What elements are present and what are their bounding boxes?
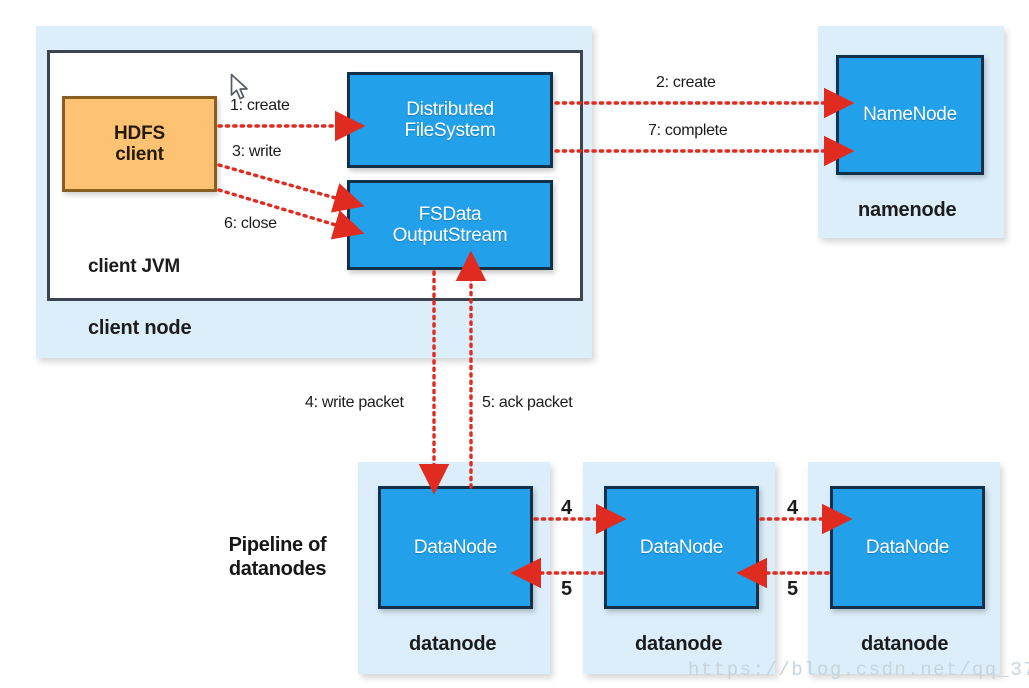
hdfs-client-box[interactable]: HDFS client xyxy=(62,96,217,192)
datanode-label-1: DataNode xyxy=(414,537,497,558)
hdfs-client-label-line2: client xyxy=(114,144,165,165)
diagram-canvas: client JVM client node HDFS client Distr… xyxy=(0,0,1029,688)
label-step-5-ack-packet: 5: ack packet xyxy=(482,394,572,412)
client-jvm-caption: client JVM xyxy=(88,256,180,278)
distributed-filesystem-box[interactable]: Distributed FileSystem xyxy=(347,72,553,168)
label-step-7-complete: 7: complete xyxy=(648,122,727,140)
client-node-caption: client node xyxy=(88,317,191,340)
pipeline-label-line1: Pipeline of xyxy=(205,534,350,558)
label-step-3-write: 3: write xyxy=(232,143,281,161)
label-step-6-close: 6: close xyxy=(224,215,277,233)
datanode-label-3: DataNode xyxy=(866,537,949,558)
namenode-caption: namenode xyxy=(858,199,956,222)
datanode-caption-3: datanode xyxy=(861,633,948,656)
fsdata-outputstream-label-line2: OutputStream xyxy=(393,225,508,246)
label-step-2-create: 2: create xyxy=(656,74,716,92)
label-pipeline-backward-1: 5 xyxy=(561,578,572,601)
label-step-4-write-packet: 4: write packet xyxy=(305,394,404,412)
datanode-box-2[interactable]: DataNode xyxy=(604,486,759,609)
mouse-pointer-icon xyxy=(230,73,252,103)
source-watermark: https://blog.csdn.net/qq_37523863 xyxy=(688,659,1029,681)
datanode-caption-2: datanode xyxy=(635,633,722,656)
namenode-label: NameNode xyxy=(863,104,957,125)
fsdata-outputstream-box[interactable]: FSData OutputStream xyxy=(347,180,553,270)
hdfs-client-label-line1: HDFS xyxy=(114,123,165,144)
datanode-caption-1: datanode xyxy=(409,633,496,656)
label-pipeline-backward-2: 5 xyxy=(787,578,798,601)
pipeline-label-line2: datanodes xyxy=(205,558,350,582)
datanode-label-2: DataNode xyxy=(640,537,723,558)
label-pipeline-forward-1: 4 xyxy=(561,497,572,520)
namenode-box[interactable]: NameNode xyxy=(836,55,984,175)
datanode-box-1[interactable]: DataNode xyxy=(378,486,533,609)
pipeline-of-datanodes-label: Pipeline of datanodes xyxy=(205,534,350,581)
datanode-box-3[interactable]: DataNode xyxy=(830,486,985,609)
label-pipeline-forward-2: 4 xyxy=(787,497,798,520)
distributed-filesystem-label-line1: Distributed xyxy=(405,99,496,120)
distributed-filesystem-label-line2: FileSystem xyxy=(405,120,496,141)
fsdata-outputstream-label-line1: FSData xyxy=(393,204,508,225)
